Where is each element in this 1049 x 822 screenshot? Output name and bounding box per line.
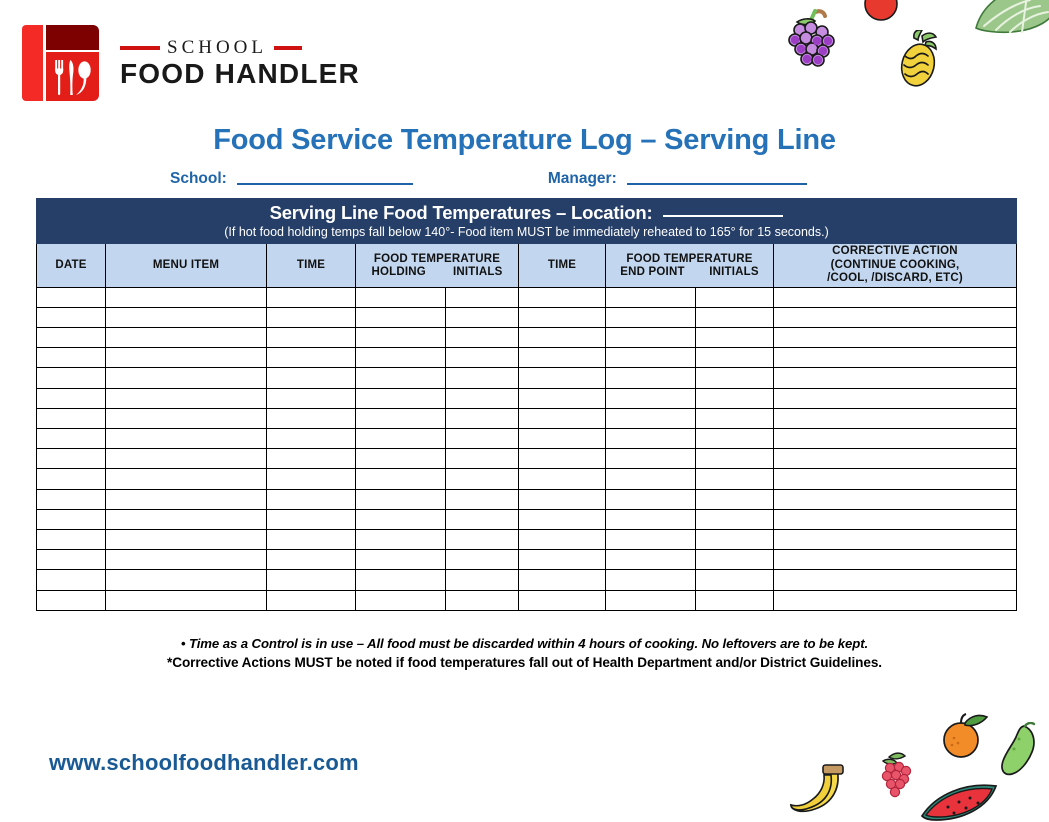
table-cell[interactable] xyxy=(106,307,267,327)
subcolumn-endpoint-initials: INITIALS xyxy=(709,266,759,278)
table-cell[interactable] xyxy=(446,429,519,449)
watermelon-slice-icon xyxy=(918,782,1002,822)
table-cell[interactable] xyxy=(106,328,267,348)
logo-maroon-block xyxy=(46,25,99,50)
table-cell[interactable] xyxy=(106,550,267,570)
corrective-line-1: CORRECTIVE ACTION xyxy=(832,245,958,257)
banner-title: Serving Line Food Temperatures – Locatio… xyxy=(37,202,1016,224)
table-cell[interactable] xyxy=(519,287,606,307)
school-field[interactable]: School: xyxy=(170,170,413,188)
logo-dash-left-icon xyxy=(120,46,160,50)
table-cell[interactable] xyxy=(606,489,696,509)
banana-icon xyxy=(789,763,857,819)
table-cell[interactable] xyxy=(696,408,774,428)
table-cell[interactable] xyxy=(774,469,1017,489)
table-cell[interactable] xyxy=(267,489,356,509)
table-cell[interactable] xyxy=(446,529,519,549)
table-cell[interactable] xyxy=(446,388,519,408)
table-cell[interactable] xyxy=(606,429,696,449)
school-field-blank[interactable] xyxy=(237,183,413,185)
table-cell[interactable] xyxy=(774,307,1017,327)
table-cell[interactable] xyxy=(606,388,696,408)
logo-red-bar xyxy=(22,25,43,101)
table-cell[interactable] xyxy=(37,550,106,570)
table-cell[interactable] xyxy=(606,529,696,549)
table-cell[interactable] xyxy=(519,408,606,428)
table-cell[interactable] xyxy=(696,287,774,307)
table-cell[interactable] xyxy=(106,408,267,428)
table-cell[interactable] xyxy=(446,348,519,368)
school-field-label: School: xyxy=(170,170,227,188)
table-cell[interactable] xyxy=(267,287,356,307)
logo-dash-right-icon xyxy=(274,46,302,50)
table-cell[interactable] xyxy=(774,529,1017,549)
table-cell[interactable] xyxy=(519,550,606,570)
table-cell[interactable] xyxy=(356,529,446,549)
table-cell[interactable] xyxy=(106,529,267,549)
table-cell[interactable] xyxy=(446,590,519,610)
fork-knife-spoon-icon xyxy=(46,52,99,101)
table-cell[interactable] xyxy=(37,368,106,388)
table-cell[interactable] xyxy=(519,307,606,327)
table-cell[interactable] xyxy=(356,590,446,610)
subcolumn-holding: HOLDING xyxy=(372,266,426,278)
table-cell[interactable] xyxy=(519,388,606,408)
table-cell[interactable] xyxy=(106,348,267,368)
table-cell[interactable] xyxy=(106,449,267,469)
table-column-header-row: DATE MENU ITEM TIME FOOD TEMPERATURE HOL… xyxy=(37,244,1017,288)
table-cell[interactable] xyxy=(267,509,356,529)
table-cell[interactable] xyxy=(106,388,267,408)
table-cell[interactable] xyxy=(774,489,1017,509)
table-cell[interactable] xyxy=(519,570,606,590)
subcolumn-end-point: END POINT xyxy=(620,266,684,278)
table-cell[interactable] xyxy=(696,328,774,348)
logo-school-row: SCHOOL xyxy=(120,37,360,59)
table-row xyxy=(37,348,1017,368)
table-row xyxy=(37,328,1017,348)
grapes-icon xyxy=(783,8,841,70)
table-cell[interactable] xyxy=(774,509,1017,529)
table-cell[interactable] xyxy=(774,287,1017,307)
brand-logo: SCHOOL FOOD HANDLER xyxy=(22,22,360,104)
logo-line2: FOOD HANDLER xyxy=(120,58,360,90)
table-cell[interactable] xyxy=(106,368,267,388)
table-cell[interactable] xyxy=(37,590,106,610)
table-cell[interactable] xyxy=(519,529,606,549)
table-cell[interactable] xyxy=(356,328,446,348)
table-cell[interactable] xyxy=(446,307,519,327)
table-cell[interactable] xyxy=(356,570,446,590)
table-cell[interactable] xyxy=(106,489,267,509)
group-title: FOOD TEMPERATURE xyxy=(608,253,771,265)
table-cell[interactable] xyxy=(696,307,774,327)
manager-field-blank[interactable] xyxy=(627,183,807,185)
tomato-icon xyxy=(860,0,904,26)
table-cell[interactable] xyxy=(696,590,774,610)
table-row xyxy=(37,590,1017,610)
table-cell[interactable] xyxy=(774,570,1017,590)
table-cell[interactable] xyxy=(696,570,774,590)
table-cell[interactable] xyxy=(267,388,356,408)
corrective-line-2: (CONTINUE COOKING, xyxy=(831,259,960,271)
table-row xyxy=(37,408,1017,428)
table-cell[interactable] xyxy=(606,469,696,489)
table-row xyxy=(37,287,1017,307)
table-row xyxy=(37,570,1017,590)
table-cell[interactable] xyxy=(696,469,774,489)
table-cell[interactable] xyxy=(696,550,774,570)
table-cell[interactable] xyxy=(606,408,696,428)
table-row xyxy=(37,429,1017,449)
table-cell[interactable] xyxy=(519,489,606,509)
footnote-time-as-control: • Time as a Control is in use – All food… xyxy=(0,636,1049,651)
table-cell[interactable] xyxy=(446,570,519,590)
manager-field[interactable]: Manager: xyxy=(548,170,807,188)
pineapple-icon xyxy=(892,30,948,92)
table-cell[interactable] xyxy=(37,408,106,428)
table-row xyxy=(37,368,1017,388)
group-title: FOOD TEMPERATURE xyxy=(358,253,516,265)
corrective-line-3: /COOL, /DISCARD, ETC) xyxy=(827,272,963,284)
banner-subtitle: (If hot food holding temps fall below 14… xyxy=(37,225,1016,239)
table-cell[interactable] xyxy=(106,469,267,489)
table-cell[interactable] xyxy=(606,449,696,469)
table-cell[interactable] xyxy=(606,509,696,529)
table-cell[interactable] xyxy=(267,590,356,610)
table-cell[interactable] xyxy=(267,570,356,590)
table-cell[interactable] xyxy=(519,449,606,469)
table-cell[interactable] xyxy=(356,348,446,368)
table-cell[interactable] xyxy=(356,408,446,428)
table-cell[interactable] xyxy=(519,590,606,610)
table-cell[interactable] xyxy=(696,489,774,509)
table-cell[interactable] xyxy=(606,570,696,590)
pear-icon xyxy=(1000,722,1049,778)
table-row xyxy=(37,529,1017,549)
table-cell[interactable] xyxy=(267,469,356,489)
table-cell[interactable] xyxy=(519,368,606,388)
column-header-date: DATE xyxy=(37,244,106,288)
table-cell[interactable] xyxy=(37,287,106,307)
table-cell[interactable] xyxy=(267,408,356,428)
table-cell[interactable] xyxy=(519,469,606,489)
table-cell[interactable] xyxy=(606,348,696,368)
table-cell[interactable] xyxy=(606,368,696,388)
table-cell[interactable] xyxy=(106,287,267,307)
table-cell[interactable] xyxy=(37,348,106,368)
school-food-handler-logo-icon xyxy=(22,23,102,103)
table-cell[interactable] xyxy=(267,348,356,368)
table-cell[interactable] xyxy=(446,509,519,529)
table-cell[interactable] xyxy=(356,368,446,388)
table-cell[interactable] xyxy=(267,449,356,469)
footnote-corrective-actions: *Corrective Actions MUST be noted if foo… xyxy=(0,655,1049,670)
table-cell[interactable] xyxy=(446,469,519,489)
manager-field-label: Manager: xyxy=(548,170,617,188)
table-cell[interactable] xyxy=(356,509,446,529)
table-cell[interactable] xyxy=(37,529,106,549)
column-header-food-temperature-endpoint: FOOD TEMPERATURE END POINT INITIALS xyxy=(606,244,774,288)
lettuce-icon xyxy=(970,0,1049,40)
temperature-log-table: Serving Line Food Temperatures – Locatio… xyxy=(36,198,1017,611)
table-cell[interactable] xyxy=(696,388,774,408)
table-row xyxy=(37,307,1017,327)
website-url[interactable]: www.schoolfoodhandler.com xyxy=(49,750,359,776)
table-row xyxy=(37,449,1017,469)
table-cell[interactable] xyxy=(606,550,696,570)
table-cell[interactable] xyxy=(774,348,1017,368)
table-cell[interactable] xyxy=(696,449,774,469)
table-cell[interactable] xyxy=(106,429,267,449)
table-cell[interactable] xyxy=(267,429,356,449)
table-cell[interactable] xyxy=(774,550,1017,570)
table-row xyxy=(37,509,1017,529)
column-header-time-endpoint: TIME xyxy=(519,244,606,288)
table-cell[interactable] xyxy=(37,307,106,327)
logo-line1: SCHOOL xyxy=(167,37,267,59)
table-cell[interactable] xyxy=(519,509,606,529)
table-cell[interactable] xyxy=(446,287,519,307)
form-fields-row: School: Manager: xyxy=(170,170,890,188)
table-cell[interactable] xyxy=(356,307,446,327)
table-cell[interactable] xyxy=(267,307,356,327)
table-cell[interactable] xyxy=(696,368,774,388)
column-header-time-holding: TIME xyxy=(267,244,356,288)
column-header-food-temperature-holding: FOOD TEMPERATURE HOLDING INITIALS xyxy=(356,244,519,288)
table-cell[interactable] xyxy=(356,388,446,408)
table-cell[interactable] xyxy=(696,529,774,549)
table-cell[interactable] xyxy=(774,388,1017,408)
table-cell[interactable] xyxy=(774,449,1017,469)
table-row xyxy=(37,550,1017,570)
table-cell[interactable] xyxy=(37,570,106,590)
table-cell[interactable] xyxy=(696,509,774,529)
table-cell[interactable] xyxy=(446,550,519,570)
table-row xyxy=(37,469,1017,489)
table-cell[interactable] xyxy=(356,449,446,469)
table-cell[interactable] xyxy=(37,429,106,449)
table-cell[interactable] xyxy=(37,489,106,509)
table-cell[interactable] xyxy=(106,509,267,529)
table-row xyxy=(37,489,1017,509)
table-banner-cell: Serving Line Food Temperatures – Locatio… xyxy=(37,199,1017,244)
banner-title-text: Serving Line Food Temperatures – Locatio… xyxy=(270,202,653,223)
table-cell[interactable] xyxy=(606,307,696,327)
table-cell[interactable] xyxy=(774,368,1017,388)
orange-icon xyxy=(938,712,992,764)
table-cell[interactable] xyxy=(37,449,106,469)
table-cell[interactable] xyxy=(356,489,446,509)
table-banner-row: Serving Line Food Temperatures – Locatio… xyxy=(37,199,1017,244)
footnotes: • Time as a Control is in use – All food… xyxy=(0,636,1049,670)
table-cell[interactable] xyxy=(356,429,446,449)
table-cell[interactable] xyxy=(774,328,1017,348)
table-cell[interactable] xyxy=(446,368,519,388)
table-cell[interactable] xyxy=(446,449,519,469)
table-cell[interactable] xyxy=(446,328,519,348)
table-cell[interactable] xyxy=(267,529,356,549)
table-cell[interactable] xyxy=(37,509,106,529)
subcolumn-holding-initials: INITIALS xyxy=(453,266,503,278)
table-cell[interactable] xyxy=(106,570,267,590)
table-cell[interactable] xyxy=(267,550,356,570)
table-cell[interactable] xyxy=(519,328,606,348)
table-cell[interactable] xyxy=(774,429,1017,449)
table-cell[interactable] xyxy=(37,328,106,348)
column-header-menu-item: MENU ITEM xyxy=(106,244,267,288)
table-cell[interactable] xyxy=(519,348,606,368)
column-header-corrective-action: CORRECTIVE ACTION (CONTINUE COOKING, /CO… xyxy=(774,244,1017,288)
table-cell[interactable] xyxy=(37,388,106,408)
banner-location-blank[interactable] xyxy=(663,215,783,217)
table-cell[interactable] xyxy=(519,429,606,449)
table-cell[interactable] xyxy=(774,408,1017,428)
raspberry-icon xyxy=(875,748,921,798)
table-cell[interactable] xyxy=(106,590,267,610)
table-cell[interactable] xyxy=(356,469,446,489)
table-cell[interactable] xyxy=(606,287,696,307)
table-cell[interactable] xyxy=(696,429,774,449)
table-cell[interactable] xyxy=(606,590,696,610)
table-cell[interactable] xyxy=(446,408,519,428)
table-cell[interactable] xyxy=(267,368,356,388)
table-cell[interactable] xyxy=(774,590,1017,610)
page-title: Food Service Temperature Log – Serving L… xyxy=(0,124,1049,157)
table-cell[interactable] xyxy=(606,328,696,348)
table-cell[interactable] xyxy=(356,287,446,307)
table-row xyxy=(37,388,1017,408)
table-cell[interactable] xyxy=(696,348,774,368)
table-cell[interactable] xyxy=(267,328,356,348)
table-cell[interactable] xyxy=(356,550,446,570)
table-body xyxy=(37,287,1017,610)
table-cell[interactable] xyxy=(446,489,519,509)
table-cell[interactable] xyxy=(37,469,106,489)
